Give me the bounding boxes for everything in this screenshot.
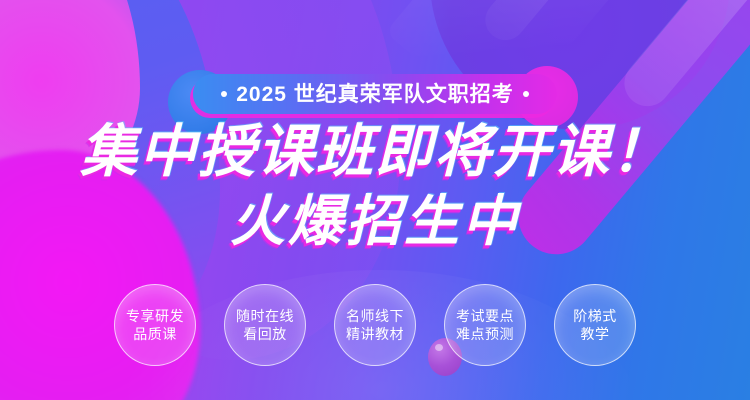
feature-circle-5[interactable]: 阶梯式 教学 <box>554 284 636 366</box>
badge-container: 2025 世纪真荣军队文职招考 <box>0 74 750 114</box>
campaign-badge: 2025 世纪真荣军队文职招考 <box>193 74 557 114</box>
feature-circle-4[interactable]: 考试要点 难点预测 <box>444 284 526 366</box>
decor-streak-light-small <box>477 0 643 48</box>
bullet-dot-left-icon <box>221 91 227 97</box>
feature-3-line-2: 精讲教材 <box>346 325 404 343</box>
feature-1-line-1: 专享研发 <box>126 307 184 325</box>
feature-circle-3[interactable]: 名师线下 精讲教材 <box>334 284 416 366</box>
headline-group: 集中授课班即将开课！ 火爆招生中 <box>0 124 750 249</box>
feature-5-line-2: 教学 <box>581 325 610 343</box>
feature-circle-1[interactable]: 专享研发 品质课 <box>114 284 196 366</box>
feature-list: 专享研发 品质课 随时在线 看回放 名师线下 精讲教材 考试要点 难点预测 阶梯… <box>0 284 750 366</box>
feature-3-line-1: 名师线下 <box>346 307 404 325</box>
promo-banner: 2025 世纪真荣军队文职招考 集中授课班即将开课！ 火爆招生中 专享研发 品质… <box>0 0 750 400</box>
feature-2-line-2: 看回放 <box>243 325 287 343</box>
badge-label: 2025 世纪真荣军队文职招考 <box>236 84 514 105</box>
feature-2-line-1: 随时在线 <box>236 307 294 325</box>
feature-1-line-2: 品质课 <box>133 325 177 343</box>
headline-primary: 集中授课班即将开课！ <box>0 124 750 181</box>
feature-5-line-1: 阶梯式 <box>573 307 617 325</box>
bullet-dot-right-icon <box>523 91 529 97</box>
headline-secondary: 火爆招生中 <box>0 194 750 249</box>
feature-4-line-2: 难点预测 <box>456 325 514 343</box>
feature-circle-2[interactable]: 随时在线 看回放 <box>224 284 306 366</box>
feature-4-line-1: 考试要点 <box>456 307 514 325</box>
